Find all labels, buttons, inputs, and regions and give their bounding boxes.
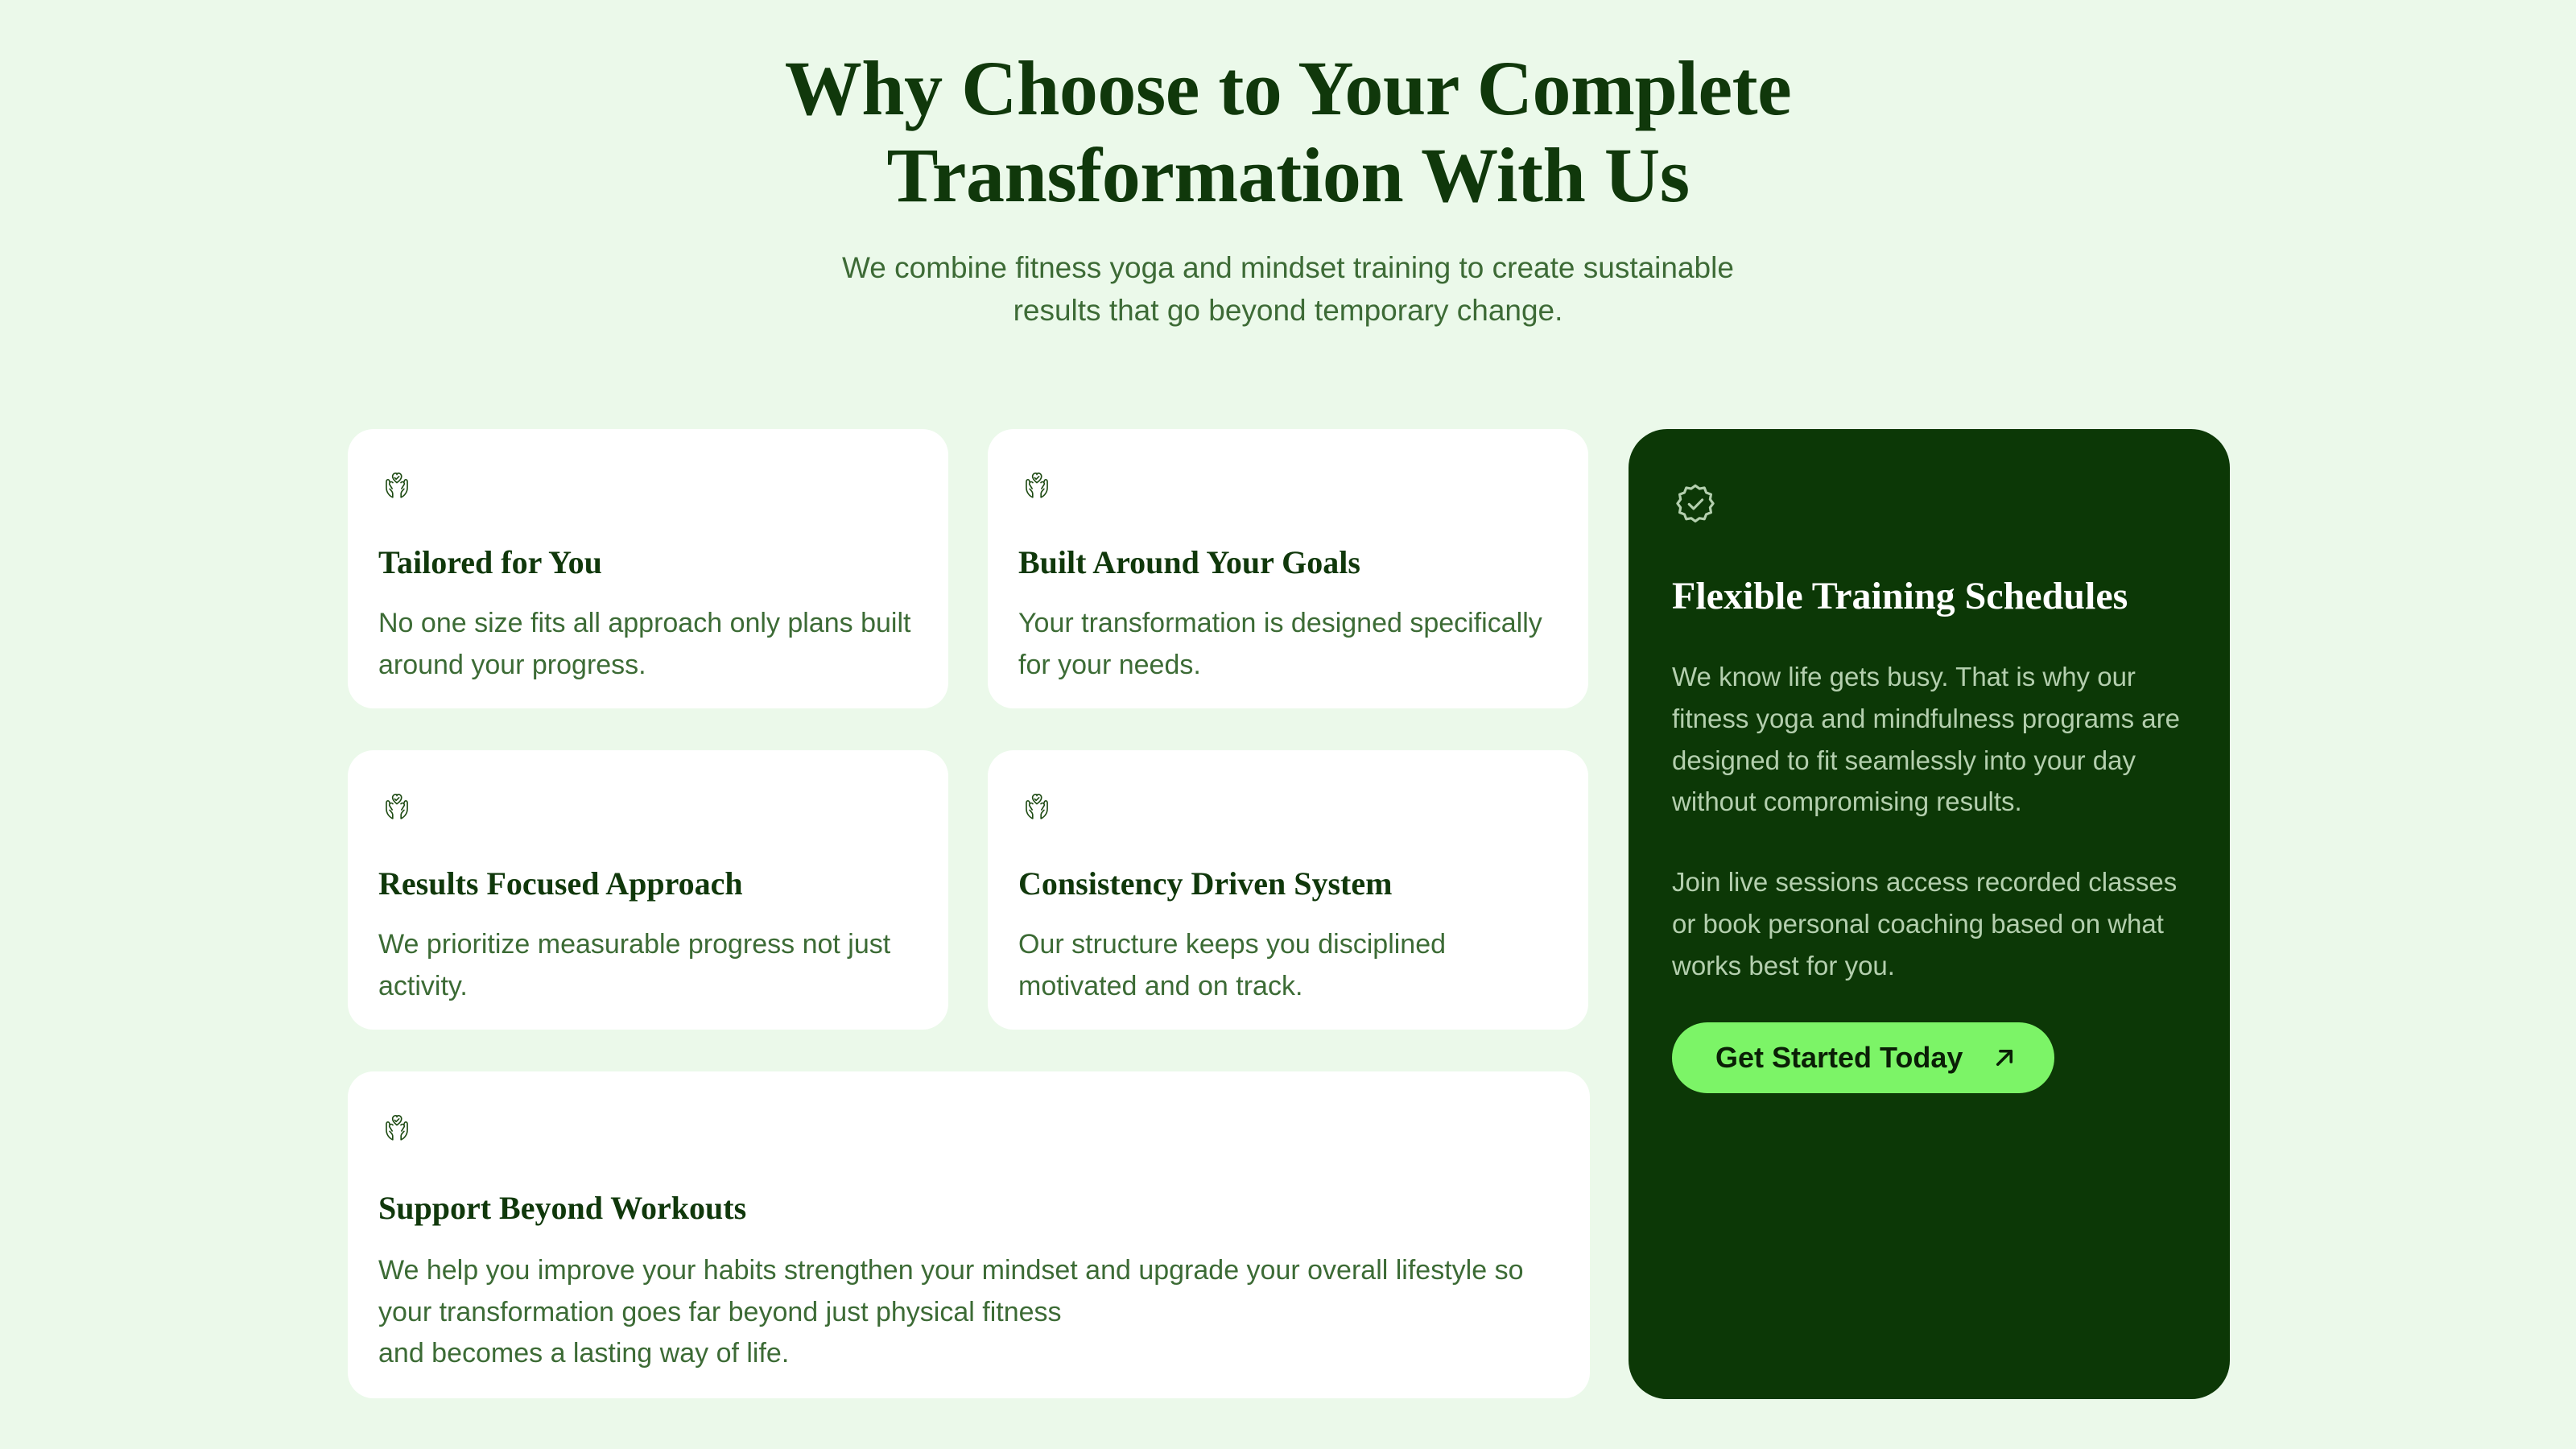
hands-holding-heart-check-icon (378, 787, 415, 824)
verified-badge-check-icon (1672, 481, 1719, 527)
hands-holding-heart-check-icon (1018, 787, 1055, 824)
get-started-today-button[interactable]: Get Started Today (1672, 1022, 2054, 1093)
cta-label: Get Started Today (1715, 1043, 1963, 1072)
hands-holding-heart-check-icon (1018, 466, 1055, 503)
promo-card-title: Flexible Training Schedules (1672, 572, 2186, 621)
hands-holding-heart-check-icon (378, 1108, 415, 1146)
feature-card-consistency-driven-system[interactable]: Consistency Driven System Our structure … (988, 750, 1588, 1030)
section-header: Why Choose to Your Complete Transformati… (0, 0, 2576, 332)
feature-card-support-beyond-workouts[interactable]: Support Beyond Workouts We help you impr… (348, 1071, 1590, 1398)
feature-cards-column: Tailored for You No one size fits all ap… (348, 429, 1590, 1399)
promo-card-flexible-training-schedules[interactable]: Flexible Training Schedules We know life… (1629, 429, 2230, 1399)
feature-card-title: Results Focused Approach (378, 865, 918, 903)
feature-card-tailored-for-you[interactable]: Tailored for You No one size fits all ap… (348, 429, 948, 708)
feature-card-title: Tailored for You (378, 543, 918, 582)
why-choose-section: Why Choose to Your Complete Transformati… (0, 0, 2576, 1449)
feature-card-results-focused-approach[interactable]: Results Focused Approach We prioritize m… (348, 750, 948, 1030)
feature-card-title: Consistency Driven System (1018, 865, 1558, 903)
feature-card-description: We help you improve your habits strength… (378, 1250, 1559, 1375)
feature-card-title: Built Around Your Goals (1018, 543, 1558, 582)
hands-holding-heart-check-icon (378, 466, 415, 503)
feature-card-description: Our structure keeps you disciplined moti… (1018, 924, 1558, 1007)
page-title: Why Choose to Your Complete Transformati… (684, 45, 1892, 218)
section-subtitle: We combine fitness yoga and mindset trai… (813, 247, 1763, 332)
promo-card-paragraph-2: Join live sessions access recorded class… (1672, 861, 2186, 986)
arrow-up-right-icon (1990, 1043, 2019, 1072)
promo-card-paragraph-1: We know life gets busy. That is why our … (1672, 656, 2186, 823)
feature-card-description: No one size fits all approach only plans… (378, 603, 918, 686)
feature-card-description: We prioritize measurable progress not ju… (378, 924, 918, 1007)
feature-card-description: Your transformation is designed specific… (1018, 603, 1558, 686)
features-grid: Tailored for You No one size fits all ap… (348, 429, 2230, 1399)
feature-card-title: Support Beyond Workouts (378, 1189, 1559, 1228)
feature-card-built-around-your-goals[interactable]: Built Around Your Goals Your transformat… (988, 429, 1588, 708)
